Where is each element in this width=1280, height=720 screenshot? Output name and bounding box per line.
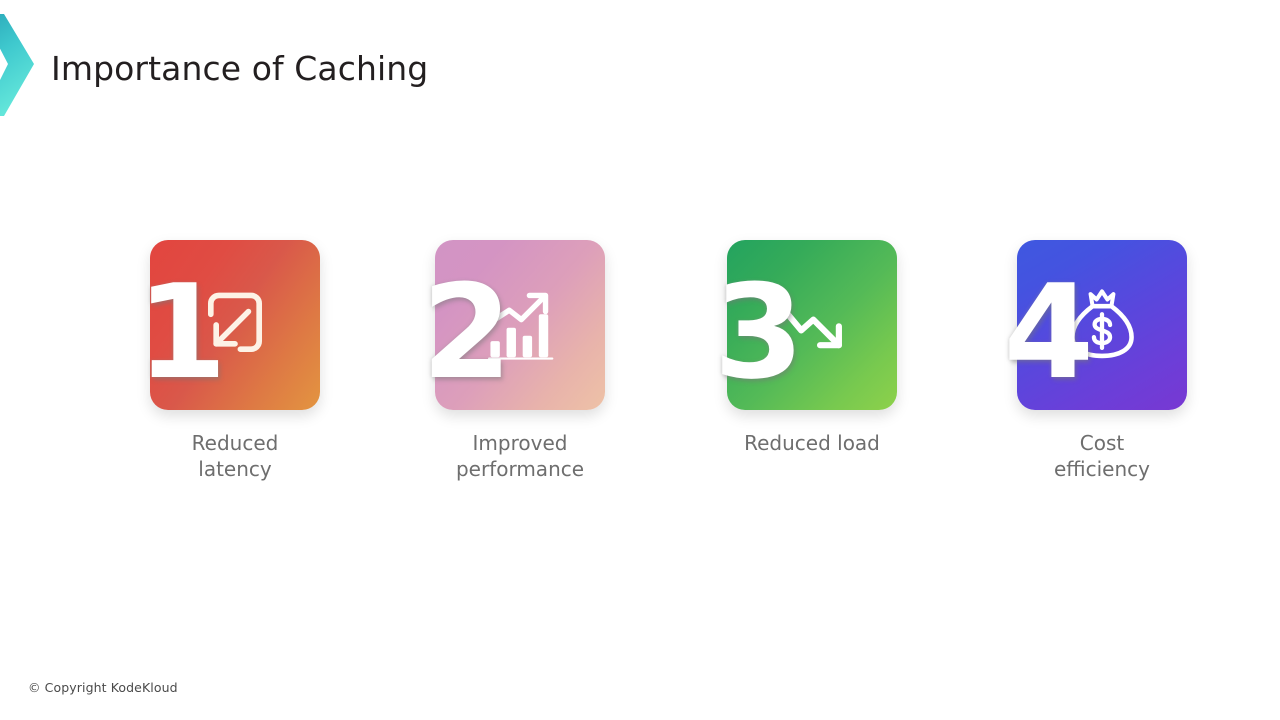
card-tile-3[interactable] <box>727 240 897 410</box>
chevron-right-logo <box>0 14 34 116</box>
card-label-1: Reduced latency <box>115 430 355 482</box>
card-tile-4[interactable] <box>1017 240 1187 410</box>
footer-copyright: © Copyright KodeKloud <box>28 680 178 695</box>
card-tile-1[interactable] <box>150 240 320 410</box>
card-label-3: Reduced load <box>692 430 932 456</box>
card-label-4: Cost efficiency <box>982 430 1222 482</box>
bar-chart-up-icon <box>477 282 563 368</box>
card-label-2: Improved performance <box>400 430 640 482</box>
trend-down-arrow-icon <box>769 282 855 368</box>
money-bag-icon <box>1059 282 1145 368</box>
page-title: Importance of Caching <box>51 49 428 89</box>
feature-cards-row: 1 Reduced latency 2 <box>0 240 1280 490</box>
shrink-arrow-icon <box>192 282 278 368</box>
card-tile-2[interactable] <box>435 240 605 410</box>
